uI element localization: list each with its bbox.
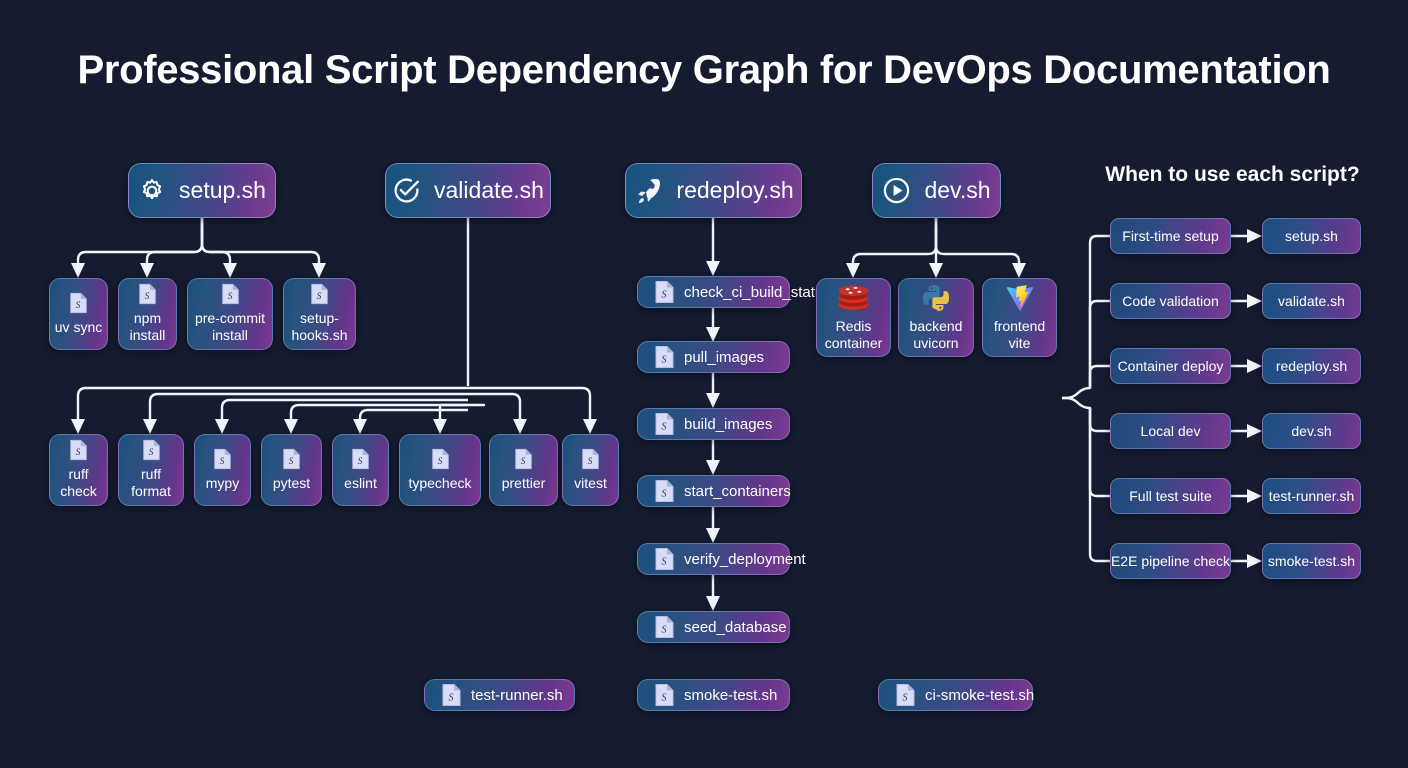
legend-script-redeploy-sh[interactable]: redeploy.sh bbox=[1262, 348, 1361, 384]
node-setup-hooks-sh[interactable]: S setup-hooks.sh bbox=[283, 278, 356, 350]
node-label: frontend vite bbox=[987, 318, 1052, 351]
script-file-icon: S bbox=[654, 345, 675, 369]
node-validate-sh[interactable]: validate.sh bbox=[385, 163, 551, 218]
node-pull-images[interactable]: S pull_images bbox=[637, 341, 790, 373]
node-label: seed_database bbox=[684, 619, 787, 636]
legend-script-label: test-runner.sh bbox=[1269, 488, 1355, 504]
node-seed-database[interactable]: S seed_database bbox=[637, 611, 790, 643]
svg-text:S: S bbox=[227, 292, 232, 302]
script-file-icon: S bbox=[69, 439, 88, 461]
node-label: vitest bbox=[574, 475, 607, 492]
vite-icon bbox=[1005, 283, 1035, 313]
legend-script-setup-sh[interactable]: setup.sh bbox=[1262, 218, 1361, 254]
node-label: validate.sh bbox=[434, 177, 544, 204]
legend-script-label: dev.sh bbox=[1291, 423, 1331, 439]
legend-script-label: redeploy.sh bbox=[1276, 358, 1347, 374]
script-file-icon: S bbox=[138, 283, 157, 305]
page-title: Professional Script Dependency Graph for… bbox=[0, 48, 1408, 93]
svg-text:S: S bbox=[662, 290, 667, 301]
legend-script-smoke-test-sh[interactable]: smoke-test.sh bbox=[1262, 543, 1361, 579]
node-label: Redis container bbox=[821, 318, 886, 351]
node-ci-smoke-test-sh[interactable]: S ci-smoke-test.sh bbox=[878, 679, 1033, 711]
svg-text:S: S bbox=[662, 489, 667, 500]
svg-text:S: S bbox=[588, 456, 593, 466]
legend-script-label: validate.sh bbox=[1278, 293, 1345, 309]
node-smoke-test-sh[interactable]: S smoke-test.sh bbox=[637, 679, 790, 711]
script-file-icon: S bbox=[431, 448, 450, 470]
legend-script-label: smoke-test.sh bbox=[1268, 553, 1355, 569]
node-verify-deployment[interactable]: S verify_deployment bbox=[637, 543, 790, 575]
node-label: ruff format bbox=[123, 466, 179, 499]
legend-row-arrows bbox=[1231, 229, 1262, 568]
legend-script-test-runner-sh[interactable]: test-runner.sh bbox=[1262, 478, 1361, 514]
setup-connectors bbox=[71, 217, 326, 278]
svg-text:S: S bbox=[358, 456, 363, 466]
legend-script-dev-sh[interactable]: dev.sh bbox=[1262, 413, 1361, 449]
diagram-canvas: Professional Script Dependency Graph for… bbox=[0, 0, 1408, 768]
node-label: ci-smoke-test.sh bbox=[925, 687, 1034, 704]
node-label: redeploy.sh bbox=[676, 177, 793, 204]
node-pytest[interactable]: S pytest bbox=[261, 434, 322, 506]
svg-text:S: S bbox=[76, 448, 81, 458]
node-label: check_ci_build_status bbox=[684, 284, 831, 301]
script-file-icon: S bbox=[895, 683, 916, 707]
node-npm-install[interactable]: S npm install bbox=[118, 278, 177, 350]
script-file-icon: S bbox=[654, 280, 675, 304]
script-file-icon: S bbox=[581, 448, 600, 470]
svg-text:S: S bbox=[662, 625, 667, 636]
legend-script-label: setup.sh bbox=[1285, 228, 1338, 244]
legend-usecase-e2e-pipeline-check[interactable]: E2E pipeline check bbox=[1110, 543, 1231, 579]
script-file-icon: S bbox=[514, 448, 533, 470]
legend-script-validate-sh[interactable]: validate.sh bbox=[1262, 283, 1361, 319]
legend-usecase-label: Local dev bbox=[1141, 423, 1201, 439]
node-build-images[interactable]: S build_images bbox=[637, 408, 790, 440]
script-file-icon: S bbox=[310, 283, 329, 305]
node-mypy[interactable]: S mypy bbox=[194, 434, 251, 506]
node-label: start_containers bbox=[684, 483, 791, 500]
node-label: backend uvicorn bbox=[903, 318, 969, 351]
svg-text:S: S bbox=[521, 456, 526, 466]
node-label: verify_deployment bbox=[684, 551, 806, 568]
node-label: smoke-test.sh bbox=[684, 687, 777, 704]
node-uv-sync[interactable]: S uv sync bbox=[49, 278, 108, 350]
node-label: npm install bbox=[123, 310, 172, 343]
script-file-icon: S bbox=[142, 439, 161, 461]
svg-text:S: S bbox=[903, 693, 908, 704]
legend-usecase-full-test-suite[interactable]: Full test suite bbox=[1110, 478, 1231, 514]
script-file-icon: S bbox=[213, 448, 232, 470]
node-label: setup-hooks.sh bbox=[288, 310, 351, 343]
script-file-icon: S bbox=[351, 448, 370, 470]
node-label: uv sync bbox=[55, 319, 102, 336]
node-label: typecheck bbox=[408, 475, 471, 492]
legend-usecase-label: Code validation bbox=[1122, 293, 1219, 309]
legend-usecase-container-deploy[interactable]: Container deploy bbox=[1110, 348, 1231, 384]
node-label: setup.sh bbox=[179, 177, 266, 204]
script-file-icon: S bbox=[654, 683, 675, 707]
script-file-icon: S bbox=[654, 479, 675, 503]
node-label: build_images bbox=[684, 416, 772, 433]
script-file-icon: S bbox=[654, 547, 675, 571]
python-icon bbox=[921, 283, 951, 313]
node-pre-commit-install[interactable]: S pre-commit install bbox=[187, 278, 273, 350]
svg-text:S: S bbox=[662, 355, 667, 366]
svg-text:S: S bbox=[662, 422, 667, 433]
play-circle-icon bbox=[882, 176, 911, 205]
svg-text:S: S bbox=[148, 448, 153, 458]
node-test-runner-sh[interactable]: S test-runner.sh bbox=[424, 679, 575, 711]
node-label: pytest bbox=[273, 475, 310, 492]
connector-layer bbox=[0, 0, 1408, 768]
node-label: eslint bbox=[344, 475, 377, 492]
node-label: ruff check bbox=[54, 466, 103, 499]
node-prettier[interactable]: S prettier bbox=[489, 434, 558, 506]
node-ruff-check[interactable]: S ruff check bbox=[49, 434, 108, 506]
script-file-icon: S bbox=[654, 412, 675, 436]
node-label: mypy bbox=[206, 475, 239, 492]
node-label: pull_images bbox=[684, 349, 764, 366]
node-vitest[interactable]: S vitest bbox=[562, 434, 619, 506]
svg-text:S: S bbox=[220, 456, 225, 466]
legend-usecase-code-validation[interactable]: Code validation bbox=[1110, 283, 1231, 319]
legend-usecase-label: First-time setup bbox=[1122, 228, 1218, 244]
node-frontend-vite[interactable]: frontend vite bbox=[982, 278, 1057, 357]
node-backend-uvicorn[interactable]: backend uvicorn bbox=[898, 278, 974, 357]
gear-icon bbox=[138, 177, 166, 205]
svg-text:S: S bbox=[449, 693, 454, 704]
node-setup-sh[interactable]: setup.sh bbox=[128, 163, 276, 218]
svg-text:S: S bbox=[145, 292, 150, 302]
svg-text:S: S bbox=[662, 693, 667, 704]
node-redis-container[interactable]: Redis container bbox=[816, 278, 891, 357]
script-file-icon: S bbox=[282, 448, 301, 470]
legend-usecase-label: Container deploy bbox=[1118, 358, 1224, 374]
node-dev-sh[interactable]: dev.sh bbox=[872, 163, 1001, 218]
legend-title: When to use each script? bbox=[1060, 163, 1405, 187]
node-ruff-format[interactable]: S ruff format bbox=[118, 434, 184, 506]
node-redeploy-sh[interactable]: redeploy.sh bbox=[625, 163, 802, 218]
node-label: prettier bbox=[502, 475, 546, 492]
node-typecheck[interactable]: S typecheck bbox=[399, 434, 481, 506]
script-file-icon: S bbox=[69, 292, 88, 314]
check-circle-icon bbox=[392, 176, 421, 205]
legend-usecase-local-dev[interactable]: Local dev bbox=[1110, 413, 1231, 449]
dev-connectors bbox=[846, 217, 1026, 278]
node-check-ci-build-status[interactable]: S check_ci_build_status bbox=[637, 276, 790, 308]
node-eslint[interactable]: S eslint bbox=[332, 434, 389, 506]
svg-text:S: S bbox=[437, 456, 442, 466]
svg-text:S: S bbox=[289, 456, 294, 466]
svg-text:S: S bbox=[662, 557, 667, 568]
legend-bracket bbox=[1062, 236, 1110, 561]
svg-text:S: S bbox=[317, 292, 322, 302]
script-file-icon: S bbox=[221, 283, 240, 305]
svg-text:S: S bbox=[76, 300, 81, 310]
rocket-icon bbox=[633, 176, 663, 206]
node-start-containers[interactable]: S start_containers bbox=[637, 475, 790, 507]
node-label: test-runner.sh bbox=[471, 687, 563, 704]
script-file-icon: S bbox=[654, 615, 675, 639]
node-label: dev.sh bbox=[924, 177, 990, 204]
legend-usecase-first-time-setup[interactable]: First-time setup bbox=[1110, 218, 1231, 254]
legend-usecase-label: Full test suite bbox=[1129, 488, 1211, 504]
redis-icon bbox=[837, 283, 870, 313]
script-file-icon: S bbox=[441, 683, 462, 707]
legend-usecase-label: E2E pipeline check bbox=[1111, 553, 1230, 569]
node-label: pre-commit install bbox=[192, 310, 268, 343]
